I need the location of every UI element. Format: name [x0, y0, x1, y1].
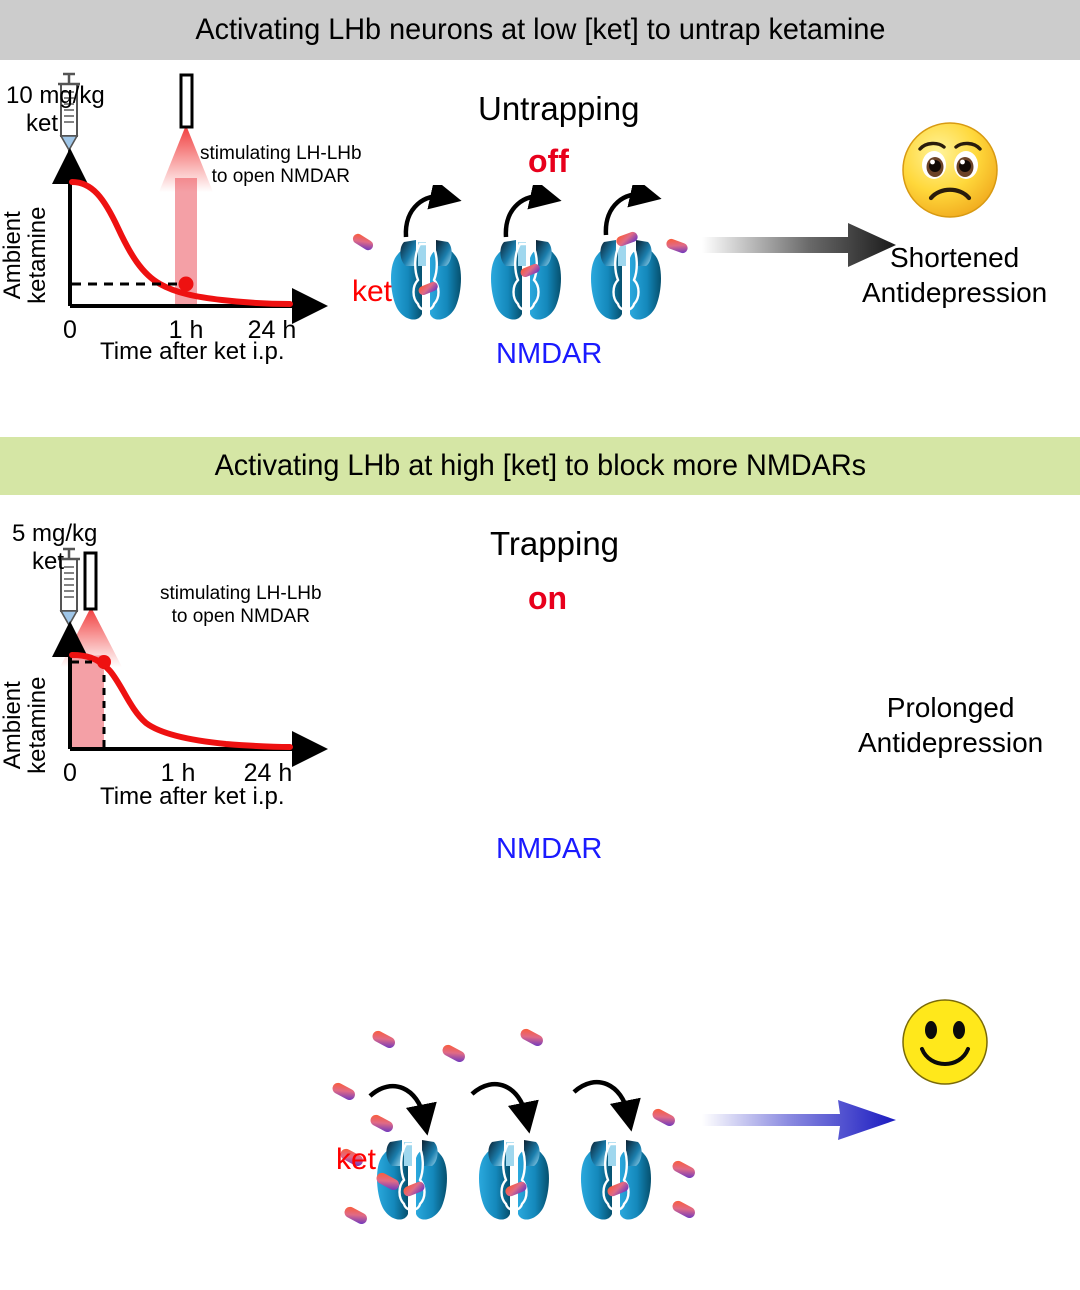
ket-molecule — [441, 1043, 467, 1064]
ket-molecule — [351, 232, 375, 252]
dose-label-top: 10 mg/kg — [6, 82, 105, 110]
x-axis-label-bottom: Time after ket i.p. — [100, 783, 285, 811]
ket-label-bottom: ket — [336, 1143, 376, 1177]
ket-molecule — [369, 1113, 395, 1134]
shaded-region — [72, 655, 104, 749]
state-label-bottom: on — [528, 580, 567, 617]
receptor-group-trapping — [330, 1000, 710, 1285]
process-label-bottom: Trapping — [490, 525, 619, 563]
ket-molecule — [519, 1027, 545, 1048]
outcome-top-line2: Antidepression — [862, 275, 1047, 310]
x-axis-label-top: Time after ket i.p. — [100, 338, 285, 366]
ket-molecule — [665, 238, 689, 255]
optical-fiber — [181, 75, 192, 127]
stim-note-top-line1: stimulating LH-LHb — [200, 143, 362, 166]
process-label-top: Untrapping — [478, 90, 639, 128]
y-axis-label-bottom: Ambient ketamine — [0, 655, 56, 785]
nmdar-label-top: NMDAR — [496, 338, 602, 371]
outcome-bottom: Prolonged Antidepression — [858, 690, 1043, 760]
dose-unit-bottom: ket — [32, 548, 64, 576]
ket-molecule — [651, 1107, 677, 1128]
banner-bottom-title: Activating LHb at high [ket] to block mo… — [214, 449, 865, 483]
stim-note-top-line2: to open NMDAR — [200, 166, 362, 189]
stim-note-top: stimulating LH-LHb to open NMDAR — [200, 143, 362, 189]
stim-note-bottom-line1: stimulating LH-LHb — [160, 583, 322, 606]
y-axis-label-line2: ketamine — [25, 190, 50, 320]
panel-low-ket: Activating LHb neurons at low [ket] to u… — [0, 0, 1080, 425]
xtick-0: 0 — [63, 316, 77, 344]
outcome-bottom-line1: Prolonged — [858, 690, 1043, 725]
stim-point — [179, 277, 194, 292]
outcome-top-line1: Shortened — [862, 240, 1047, 275]
outcome-bottom-line2: Antidepression — [858, 725, 1043, 760]
untrap-arrows — [406, 194, 644, 237]
stim-note-bottom-line2: to open NMDAR — [160, 606, 322, 629]
y-axis-label-bottom-line1: Ambient — [0, 660, 25, 790]
y-axis-label-line1: Ambient — [0, 190, 25, 320]
y-axis-label-bottom-line2: ketamine — [25, 660, 50, 790]
stim-point — [97, 655, 111, 669]
xtick-0: 0 — [63, 759, 77, 787]
nmdar-label-bottom: NMDAR — [496, 833, 602, 866]
state-label-top: off — [528, 143, 569, 180]
outcome-arrow-bottom — [700, 1090, 910, 1150]
y-axis-label-top: Ambient ketamine — [0, 185, 56, 315]
banner-top: Activating LHb neurons at low [ket] to u… — [0, 0, 1080, 60]
nmdar-receptor — [391, 231, 661, 320]
nmdar-receptor — [377, 1140, 651, 1220]
sad-face-icon — [898, 118, 1002, 222]
happy-face-icon — [900, 997, 990, 1087]
banner-bottom: Activating LHb at high [ket] to block mo… — [0, 437, 1080, 495]
stim-note-bottom: stimulating LH-LHb to open NMDAR — [160, 583, 322, 629]
ket-molecule — [671, 1159, 697, 1180]
ket-molecule — [343, 1205, 369, 1226]
dose-label-bottom: 5 mg/kg — [12, 520, 97, 548]
ket-molecule — [671, 1199, 697, 1220]
outcome-top: Shortened Antidepression — [862, 240, 1047, 310]
ket-label-top: ket — [352, 275, 392, 309]
banner-top-title: Activating LHb neurons at low [ket] to u… — [195, 13, 885, 47]
dose-unit-top: ket — [26, 110, 58, 138]
ket-molecule — [371, 1029, 397, 1050]
trap-arrows — [370, 1082, 628, 1118]
optical-fiber — [85, 553, 96, 609]
panel-high-ket: Activating LHb at high [ket] to block mo… — [0, 425, 1080, 860]
ket-molecule — [331, 1081, 357, 1102]
